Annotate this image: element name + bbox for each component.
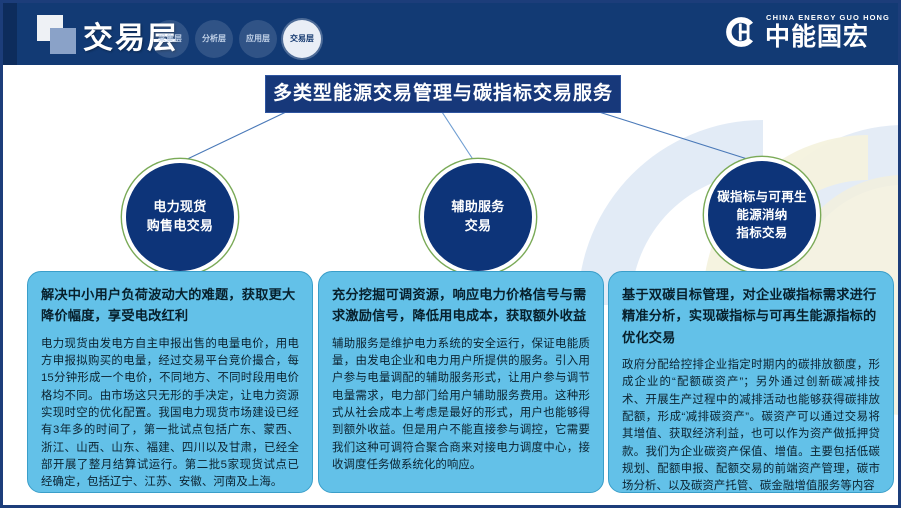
node-carbon-renewable-index-trading[interactable]: 碳指标与可再生 能源消纳 指标交易 xyxy=(704,157,820,273)
layer-pill-trading[interactable]: 交易层 xyxy=(283,20,321,58)
circle-gh-logo-icon xyxy=(724,15,758,49)
layer-pill-collect[interactable]: 采集层 xyxy=(151,20,189,58)
node-2-line-1: 辅助服务 xyxy=(451,198,504,217)
header-bar: 交易层 采集层 分析层 应用层 交易层 CHINA ENERGY GUO HON… xyxy=(3,3,901,65)
brand-logo: CHINA ENERGY GUO HONG 中能国宏 xyxy=(724,14,890,50)
node-ancillary-service-trading[interactable]: 辅助服务 交易 xyxy=(420,159,536,275)
panel-2-heading: 充分挖掘可调资源，响应电力价格信号与需求激励信号，降低用电成本，获取额外收益 xyxy=(332,284,590,327)
node-2-line-2: 交易 xyxy=(451,217,504,236)
header-accent-stripe xyxy=(3,3,17,65)
node-1-line-1: 电力现货 xyxy=(147,198,214,217)
panel-1-heading: 解决中小用户负荷波动大的难题，获取更大降价幅度，享受电改红利 xyxy=(41,284,299,327)
slide-canvas: 交易层 采集层 分析层 应用层 交易层 CHINA ENERGY GUO HON… xyxy=(0,0,901,508)
panel-carbon-index: 基于双碳目标管理，对企业碳指标需求进行精准分析，实现碳指标与可再生能源指标的优化… xyxy=(608,271,894,493)
panel-ancillary-service: 充分挖掘可调资源，响应电力价格信号与需求激励信号，降低用电成本，获取额外收益 辅… xyxy=(318,271,604,493)
panel-3-heading: 基于双碳目标管理，对企业碳指标需求进行精准分析，实现碳指标与可再生能源指标的优化… xyxy=(622,284,880,348)
panel-2-body: 辅助服务是维护电力系统的安全运行，保证电能质量，由发电企业和电力用户所提供的服务… xyxy=(332,336,590,475)
node-3-line-3: 指标交易 xyxy=(717,224,807,242)
node-3-line-2: 能源消纳 xyxy=(717,206,807,224)
panel-1-body: 电力现货由发电方自主申报出售的电量电价，用电方申报拟购买的电量，经过交易平台竞价… xyxy=(41,336,299,492)
node-electricity-spot-trading[interactable]: 电力现货 购售电交易 xyxy=(122,159,238,275)
brand-chinese: 中能国宏 xyxy=(765,25,890,50)
panel-electricity-spot: 解决中小用户负荷波动大的难题，获取更大降价幅度，享受电改红利 电力现货由发电方自… xyxy=(27,271,313,493)
layer-pill-analysis[interactable]: 分析层 xyxy=(195,20,233,58)
node-3-line-1: 碳指标与可再生 xyxy=(717,188,807,206)
layer-pill-application[interactable]: 应用层 xyxy=(239,20,277,58)
logo-square-blue-icon xyxy=(50,28,76,54)
panel-3-body: 政府分配给控排企业指定时期内的碳排放额度，形成企业的“配额碳资产”；另外通过创新… xyxy=(622,357,880,496)
brand-english: CHINA ENERGY GUO HONG xyxy=(766,14,890,22)
node-1-line-2: 购售电交易 xyxy=(147,217,214,236)
main-title-box: 多类型能源交易管理与碳指标交易服务 xyxy=(265,75,621,113)
brand-text: CHINA ENERGY GUO HONG 中能国宏 xyxy=(765,14,890,50)
